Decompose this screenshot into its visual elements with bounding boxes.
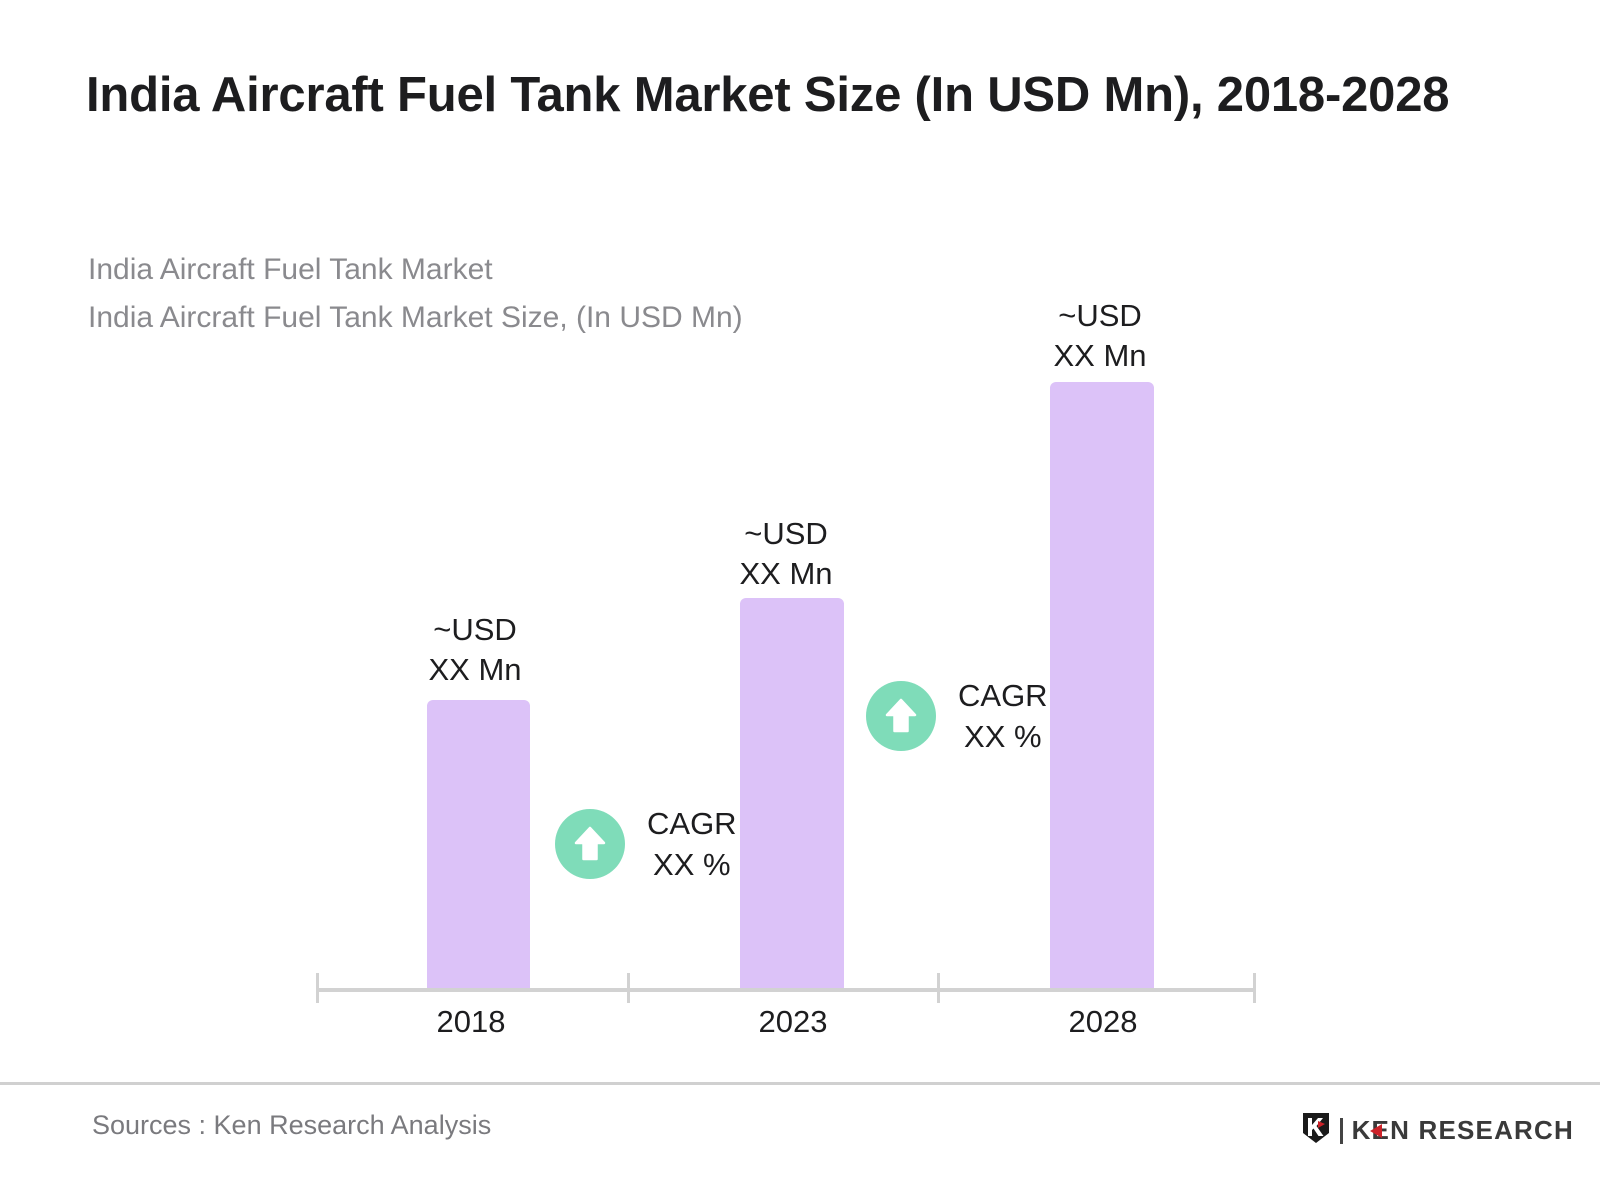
logo-divider — [1340, 1118, 1343, 1144]
bar-value-label-2028-line1: ~USD — [1000, 296, 1200, 336]
bar-value-label-2028: ~USD XX Mn — [1000, 296, 1200, 377]
bar-2023[interactable] — [740, 598, 844, 990]
cagr-label-2018-2023-line1: CAGR — [647, 803, 737, 844]
cagr-annotation-2018-2023[interactable]: CAGR XX % — [555, 803, 737, 885]
bar-value-label-2023: ~USD XX Mn — [686, 514, 886, 595]
cagr-annotation-2023-2028[interactable]: CAGR XX % — [866, 675, 1048, 757]
cagr-label-2023-2028-line1: CAGR — [958, 675, 1048, 716]
bar-value-label-2028-line2: XX Mn — [1000, 336, 1200, 376]
cagr-label-2023-2028: CAGR XX % — [958, 675, 1048, 757]
x-axis-tick-start — [316, 973, 319, 1003]
bar-2018[interactable] — [427, 700, 530, 990]
x-axis-label-2018: 2018 — [371, 1004, 571, 1040]
bar-chart: ~USD XX Mn ~USD XX Mn ~USD XX Mn CAGR XX — [0, 0, 1600, 1070]
ken-research-logo-mark — [1301, 1112, 1331, 1149]
x-axis-tick-end — [1253, 973, 1256, 1003]
bar-2028[interactable] — [1050, 382, 1154, 990]
ken-research-logo-wordmark: KEN RESEARCH — [1352, 1115, 1574, 1145]
footer-divider — [0, 1082, 1600, 1085]
x-axis-tick-2 — [937, 973, 940, 1003]
cagr-label-2023-2028-line2: XX % — [958, 716, 1048, 757]
x-axis-label-2023: 2023 — [693, 1004, 893, 1040]
ken-research-logo-text: KEN RESEARCH — [1352, 1115, 1574, 1146]
arrow-up-icon — [866, 681, 936, 751]
sources-text: Sources : Ken Research Analysis — [92, 1110, 491, 1141]
slide-canvas: India Aircraft Fuel Tank Market Size (In… — [0, 0, 1600, 1200]
cagr-label-2018-2023: CAGR XX % — [647, 803, 737, 885]
arrow-up-icon — [555, 809, 625, 879]
bar-value-label-2018: ~USD XX Mn — [375, 610, 575, 691]
x-axis-line — [316, 988, 1256, 992]
bar-value-label-2018-line2: XX Mn — [375, 650, 575, 690]
bar-value-label-2023-line2: XX Mn — [686, 554, 886, 594]
cagr-label-2018-2023-line2: XX % — [647, 844, 737, 885]
x-axis-label-2028: 2028 — [1003, 1004, 1203, 1040]
ken-research-logo: KEN RESEARCH — [1301, 1112, 1574, 1149]
x-axis-tick-1 — [627, 973, 630, 1003]
bar-value-label-2023-line1: ~USD — [686, 514, 886, 554]
bar-value-label-2018-line1: ~USD — [375, 610, 575, 650]
